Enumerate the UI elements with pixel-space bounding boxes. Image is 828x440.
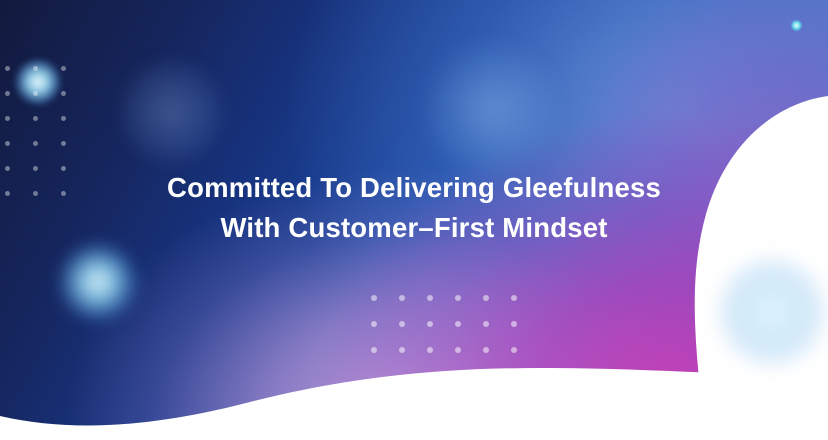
headline: Committed To Delivering Gleefulness With…: [0, 168, 828, 248]
hero-banner: Committed To Delivering Gleefulness With…: [0, 0, 828, 440]
headline-line-1: Committed To Delivering Gleefulness: [0, 168, 828, 208]
bottom-wave: [0, 368, 828, 440]
headline-line-2: With Customer–First Mindset: [0, 208, 828, 248]
